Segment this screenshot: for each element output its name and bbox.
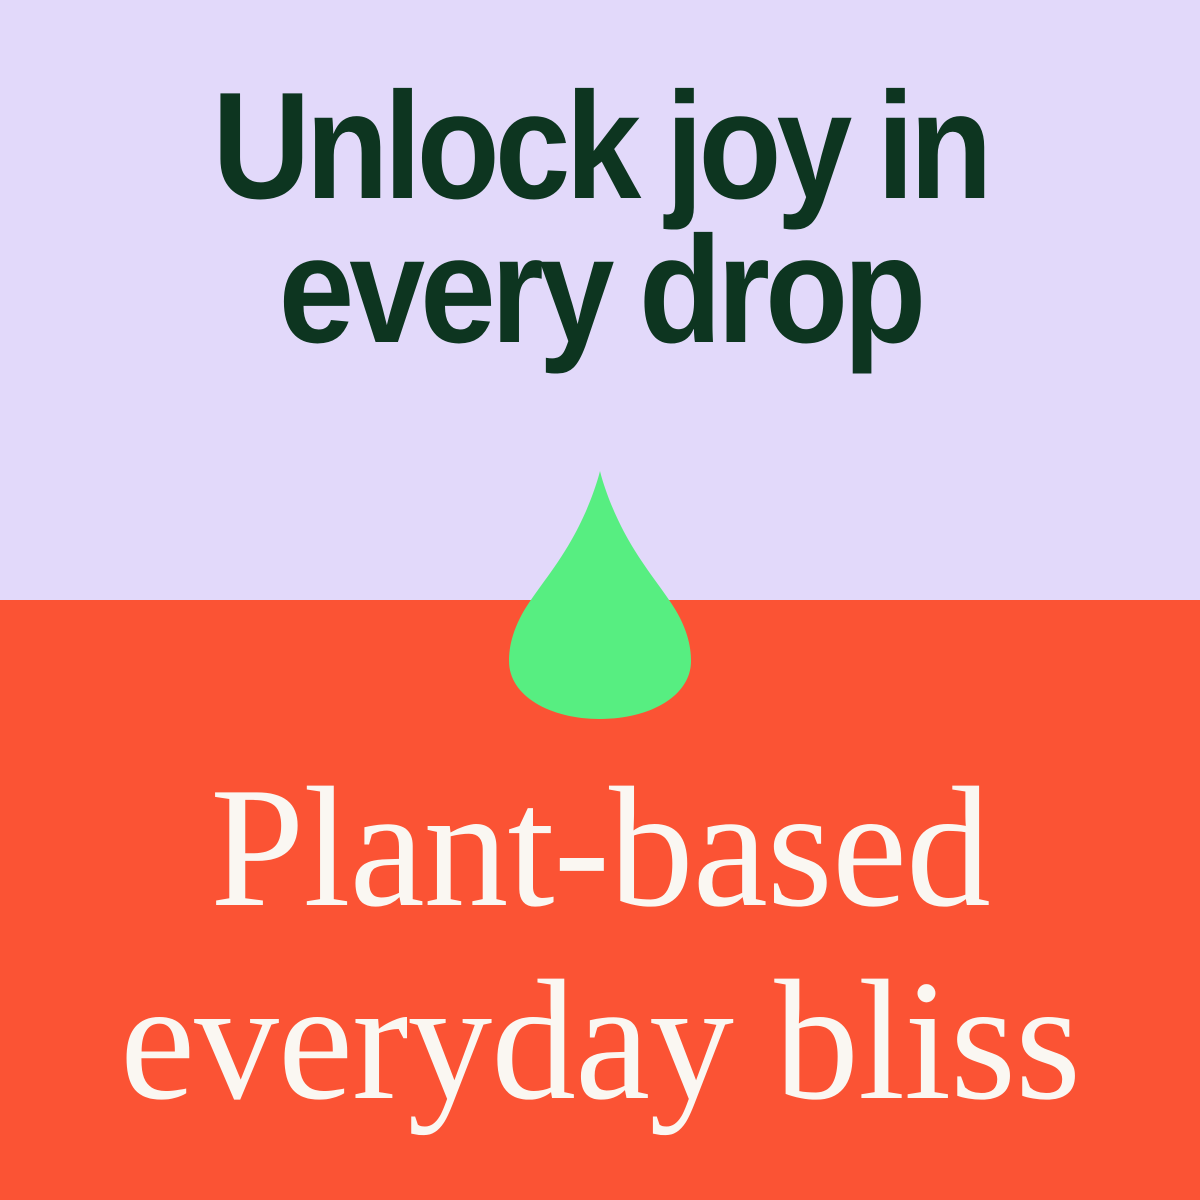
subline-line-1: Plant-based [9, 752, 1191, 945]
poster-canvas: Unlock joy in every drop Plant-based eve… [0, 0, 1200, 1200]
headline-line-2: every drop [63, 218, 1137, 362]
headline-line-1: Unlock joy in [63, 74, 1137, 218]
water-droplet-shape [504, 466, 696, 724]
subline-line-2: everyday bliss [9, 945, 1191, 1138]
water-droplet-icon [504, 466, 696, 724]
headline: Unlock joy in every drop [63, 74, 1137, 363]
subline: Plant-based everyday bliss [9, 752, 1191, 1137]
